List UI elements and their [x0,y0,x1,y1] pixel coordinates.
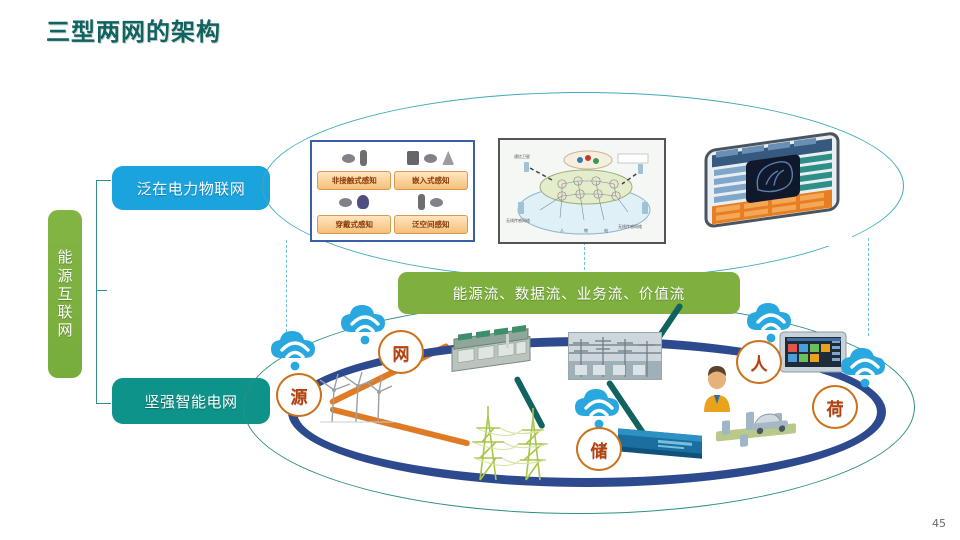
module-icon [424,154,437,163]
dash-connector-right [868,238,869,336]
wind-turbines-graphic [316,372,396,424]
drone-icon [418,194,425,210]
sensing-cell-1: 嵌入式感知 [393,147,470,191]
cloud-wifi-icon-4 [744,300,798,346]
camera-icon [342,154,355,163]
page-number: 45 [932,517,946,530]
battery-storage-container [614,424,706,460]
vlabel-char-0: 能 [57,248,72,266]
sensing-label-3: 泛空间感知 [394,215,468,234]
cloud-wifi-icon-1 [268,328,322,374]
power-plant-graphic [448,334,534,382]
sensing-cell-2: 穿戴式感知 [316,191,393,235]
probe-icon [360,150,367,166]
sensing-label-0: 非接触式感知 [317,171,391,190]
chip-icon [407,151,419,165]
satellite-icon [430,198,443,207]
page-title: 三型两网的架构 [46,20,221,44]
svg-text:物: 物 [584,227,588,233]
energy-internet-label: 能 源 互 联 网 [48,210,82,378]
network-topology-graphic: 通信卫星北斗卫星 无线传感网络无线传感网络 人物电 [500,140,664,242]
svg-text:无线传感网络: 无线传感网络 [618,223,642,229]
watch-icon [339,198,352,207]
bracket-tick [96,290,107,291]
sensing-cell-3: 泛空间感知 [393,191,470,235]
space-sensor-icons [418,191,443,213]
svg-text:无线传感网络: 无线传感网络 [506,217,530,223]
vlabel-char-3: 联 [57,303,72,321]
svg-text:人: 人 [560,228,564,233]
node-load[interactable]: 荷 [812,385,858,429]
platform-dashboard-graphic [700,136,852,246]
sensing-label-2: 穿戴式感知 [317,215,391,234]
smart-platform-panel [700,136,852,246]
sensing-cell-0: 非接触式感知 [316,147,393,191]
noncontact-sensor-icons [342,147,367,169]
node-storage[interactable]: 储 [576,427,622,471]
svg-text:通信卫星: 通信卫星 [514,153,530,159]
sensing-technology-panel: 非接触式感知 嵌入式感知 穿戴式感知 泛空间感知 [310,140,475,242]
slide-canvas: 三型两网的架构 能 源 互 联 网 泛在电力物联网 坚强智能电网 非接触式感知 [0,0,960,540]
dash-connector-left [286,240,287,342]
antenna-icon [442,151,454,165]
value-flow-banner: 能源流、数据流、业务流、价值流 [398,272,740,314]
vlabel-char-4: 网 [57,321,72,339]
helmet-icon [357,195,369,209]
node-people[interactable]: 人 [736,340,782,384]
node-grid[interactable]: 网 [378,330,424,374]
substation-photo [568,332,662,380]
ev-charging-station-graphic [712,408,804,452]
worker-person-avatar [700,366,734,412]
vlabel-char-1: 源 [57,267,72,285]
cloud-wifi-icon-5 [838,345,892,391]
transmission-tower-graphic [466,398,550,482]
wearable-sensor-icons [339,191,369,213]
embedded-sensor-icons [407,147,454,169]
svg-text:电: 电 [604,227,608,233]
sensing-label-1: 嵌入式感知 [394,171,468,190]
node-source[interactable]: 源 [276,373,322,417]
vlabel-char-2: 互 [57,285,72,303]
pill-ubiquitous-power-iot[interactable]: 泛在电力物联网 [112,166,270,210]
network-topology-panel: 通信卫星北斗卫星 无线传感网络无线传感网络 人物电 [498,138,666,244]
grouping-bracket [96,180,111,404]
cloud-wifi-icon-3 [572,386,626,432]
